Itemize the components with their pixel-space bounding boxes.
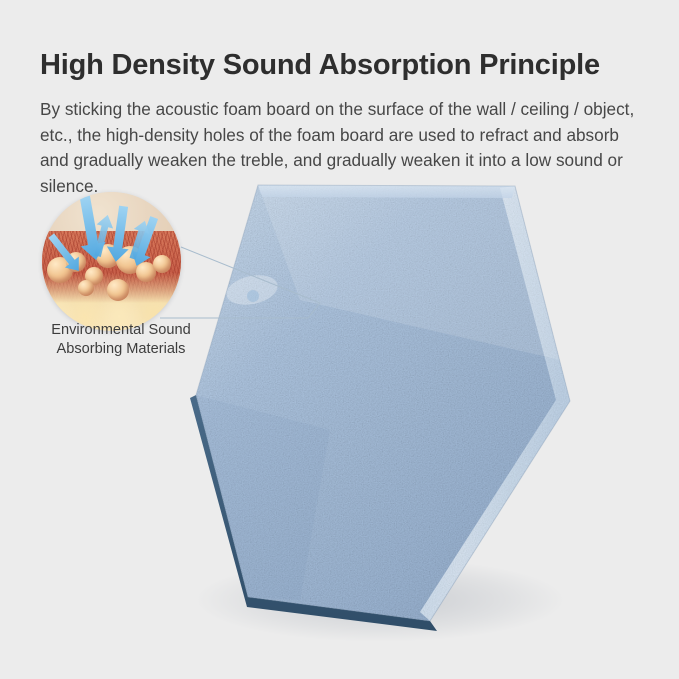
sound-arrow-layer [42, 192, 181, 331]
infographic-canvas: Environmental Sound Absorbing Materials … [0, 0, 679, 679]
inset-caption-line-1: Environmental Sound [28, 321, 214, 340]
waveform-over-panel [196, 378, 356, 432]
page-description: By sticking the acoustic foam board on t… [40, 97, 638, 199]
sound-ray-arrow [44, 230, 85, 276]
outgoing-sound-waveform [552, 396, 679, 426]
inset-caption-line-2: Absorbing Materials [28, 340, 214, 359]
sound-ray-arrow [105, 205, 135, 264]
page-title: High Density Sound Absorption Principle [40, 49, 640, 81]
callout-line-upper [181, 247, 320, 303]
inset-caption: Environmental Sound Absorbing Materials [28, 321, 214, 360]
sound-wave-arrows [44, 194, 163, 276]
magnified-material-inset [42, 192, 181, 331]
callout-line-join [308, 303, 320, 318]
